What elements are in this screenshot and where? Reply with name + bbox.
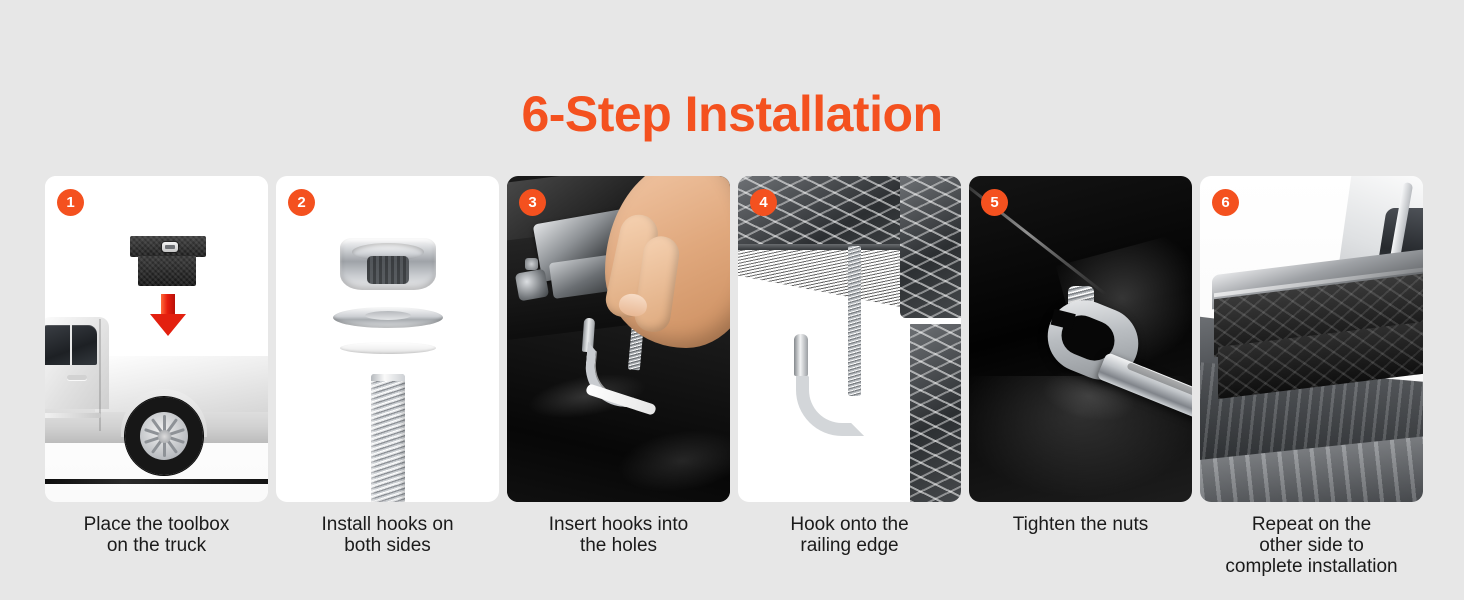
railing-edge xyxy=(738,244,910,251)
caption-line: on the truck xyxy=(49,535,264,556)
toolbox-body xyxy=(138,256,196,286)
arrow-head xyxy=(150,314,186,336)
metal-washer xyxy=(333,307,443,328)
rim-spoke xyxy=(163,415,166,436)
page-title: 6-Step Installation xyxy=(0,84,1464,144)
caption-line: Repeat on the xyxy=(1204,514,1419,535)
j-hook-tip xyxy=(794,334,808,376)
installation-banner: 6-Step Installation xyxy=(0,0,1464,600)
down-arrow-icon xyxy=(150,294,186,336)
arrow-shaft xyxy=(161,294,175,316)
toolbox-lock-icon xyxy=(162,242,178,252)
step-card-6: 6 Repeat on the other side to complete i… xyxy=(1200,176,1423,577)
step-2-image: 2 xyxy=(276,176,499,502)
step-card-2: 2 Install hooks on both sides xyxy=(276,176,499,577)
caption-line: Place the toolbox xyxy=(49,514,264,535)
caption-line: railing edge xyxy=(742,535,957,556)
rim-spoke xyxy=(164,428,185,437)
window-divider xyxy=(70,325,72,365)
step-1-image: 1 xyxy=(45,176,268,502)
truck-wheel xyxy=(125,397,203,475)
step-badge-1: 1 xyxy=(57,189,84,216)
step-1-caption: Place the toolbox on the truck xyxy=(45,514,268,556)
nylon-washer xyxy=(340,342,436,354)
caption-line: Tighten the nuts xyxy=(973,514,1188,535)
steps-row: 1 Place the toolbox on the truck 2 Insta… xyxy=(45,176,1420,577)
step-badge-3: 3 xyxy=(519,189,546,216)
step-badge-4: 4 xyxy=(750,189,777,216)
step-2-caption: Install hooks on both sides xyxy=(276,514,499,556)
caption-line: both sides xyxy=(280,535,495,556)
step-5-image: 5 xyxy=(969,176,1192,502)
step-badge-5: 5 xyxy=(981,189,1008,216)
step-card-5: 5 Tighten the nuts xyxy=(969,176,1192,577)
threaded-rod xyxy=(371,374,405,502)
ground-line xyxy=(45,479,268,484)
diamond-plate-column-lower xyxy=(910,324,961,502)
caption-line: other side to xyxy=(1204,535,1419,556)
rim-spoke xyxy=(144,428,165,437)
step-4-image: 4 xyxy=(738,176,961,502)
truck-door-handle xyxy=(67,375,87,380)
step-4-caption: Hook onto the railing edge xyxy=(738,514,961,556)
step-3-caption: Insert hooks into the holes xyxy=(507,514,730,556)
flange-nut xyxy=(340,238,436,290)
caption-line: Hook onto the xyxy=(742,514,957,535)
caption-line: Insert hooks into xyxy=(511,514,726,535)
rim-spoke xyxy=(163,436,166,457)
step-5-caption: Tighten the nuts xyxy=(969,514,1192,535)
step-card-3: 3 Insert hooks into the holes xyxy=(507,176,730,577)
step-6-caption: Repeat on the other side to complete ins… xyxy=(1200,514,1423,577)
step-card-4: 4 Hook onto the railing edge xyxy=(738,176,961,577)
latch-bolt xyxy=(515,269,549,302)
caption-line: complete installation xyxy=(1204,556,1419,577)
diamond-plate-column xyxy=(900,176,961,318)
underside-surface xyxy=(738,250,906,308)
truck-chrome-trim xyxy=(45,413,101,418)
toolbox-illustration xyxy=(129,236,207,286)
wheel-rim xyxy=(140,412,188,460)
caption-line: Install hooks on xyxy=(280,514,495,535)
step-3-image: 3 xyxy=(507,176,730,502)
step-6-image: 6 xyxy=(1200,176,1423,502)
latch-nut xyxy=(525,258,538,270)
step-badge-2: 2 xyxy=(288,189,315,216)
step-card-1: 1 Place the toolbox on the truck xyxy=(45,176,268,577)
step-badge-6: 6 xyxy=(1212,189,1239,216)
caption-line: the holes xyxy=(511,535,726,556)
